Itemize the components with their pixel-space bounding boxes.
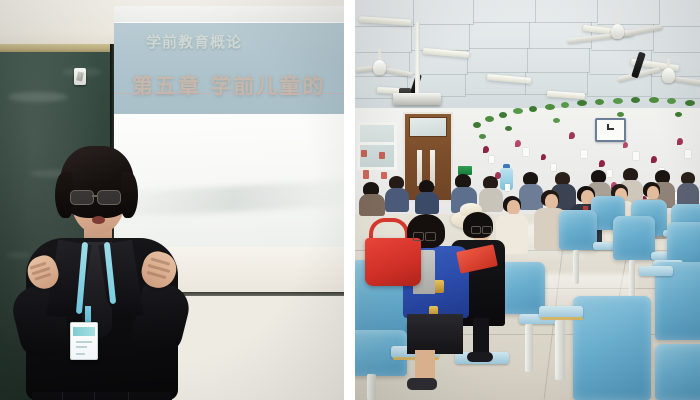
door-transom-window: [409, 117, 447, 137]
lecturer: [8, 146, 198, 400]
eyeglasses-icon: [471, 226, 491, 232]
lecturer-mouth: [92, 216, 105, 224]
wall-clock: [595, 118, 626, 142]
projector-mount-pole: [415, 22, 420, 97]
slide-subtitle: 学前教育概论: [146, 31, 242, 52]
right-photo-classroom: [355, 0, 700, 400]
red-handbag: [365, 238, 421, 286]
fluorescent-tube: [547, 91, 585, 100]
lecturer-skirt: [32, 392, 172, 400]
side-window: [357, 122, 397, 170]
ceiling-projector: [393, 93, 441, 105]
eyeglasses-icon: [70, 190, 128, 203]
photo-gutter: [344, 0, 355, 400]
slide-title-band: 学前教育概论 第五章 学前儿童的: [114, 23, 344, 114]
photo-composite: 学前教育概论 第五章 学前儿童的: [0, 0, 700, 400]
id-badge: [70, 322, 98, 360]
chalk-tray-clip: [74, 68, 86, 85]
eyeglasses-icon: [413, 232, 435, 239]
left-photo-lecturer: 学前教育概论 第五章 学前儿童的: [0, 0, 344, 400]
slide-title: 第五章 学前儿童的: [132, 70, 325, 100]
screen-top-edge: [114, 6, 344, 22]
